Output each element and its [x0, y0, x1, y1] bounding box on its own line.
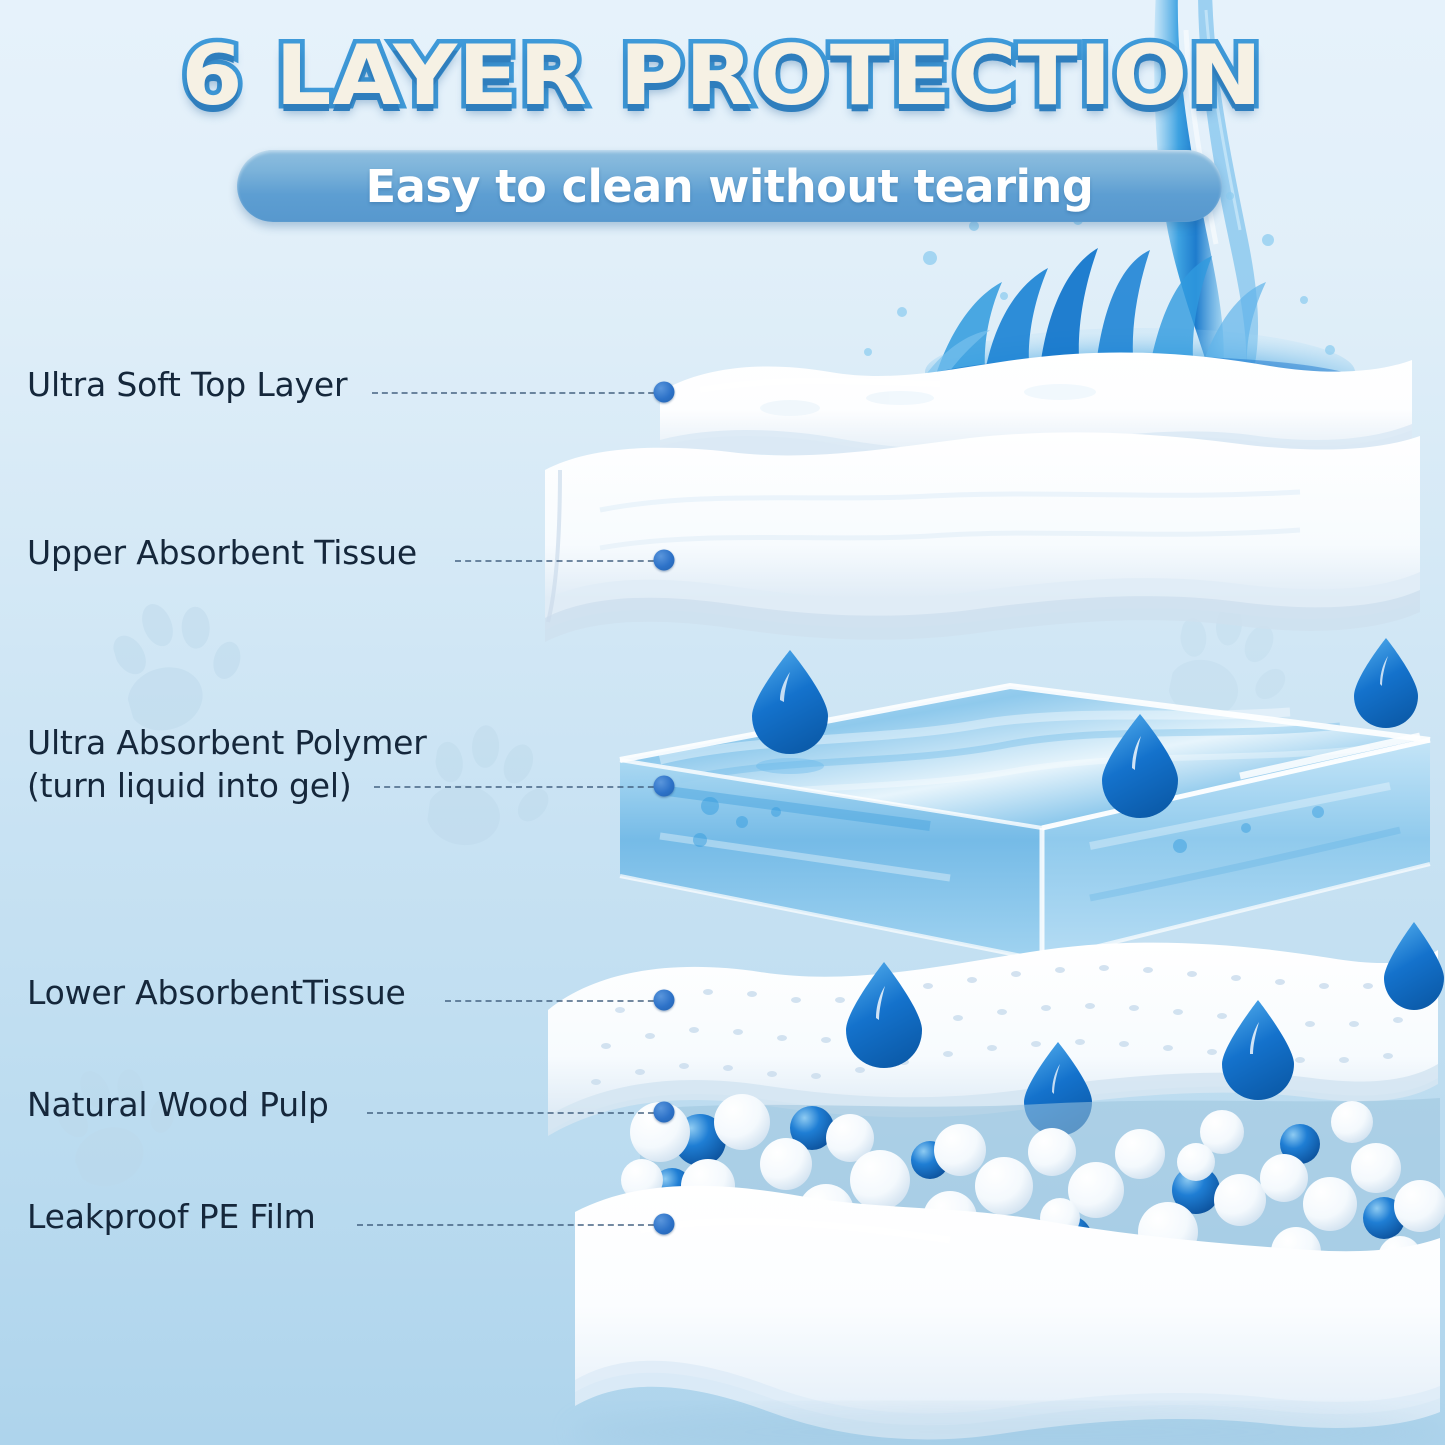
callout-upper-absorbent-tissue: Upper Absorbent Tissue	[27, 528, 677, 578]
leader-line	[374, 786, 664, 788]
layer-label-ultra-soft-top-layer: Ultra Soft Top Layer	[27, 364, 347, 406]
layer-label-lower-absorbent-tissue: Lower AbsorbentTissue	[27, 972, 406, 1014]
leader-line	[367, 1112, 664, 1114]
layer-ultra-absorbent-polymer	[620, 686, 1430, 960]
subtitle-text: Easy to clean without tearing	[366, 160, 1094, 213]
subtitle-banner: Easy to clean without tearing	[237, 150, 1222, 222]
leader-line	[372, 392, 664, 394]
callout-leakproof-pe-film: Leakproof PE Film	[27, 1192, 677, 1242]
leader-end-dot	[654, 990, 675, 1011]
callout-lower-absorbent-tissue: Lower AbsorbentTissue	[27, 968, 677, 1018]
callout-ultra-soft-top-layer: Ultra Soft Top Layer	[27, 360, 677, 410]
leader-line	[445, 1000, 664, 1002]
layer-label-leakproof-pe-film: Leakproof PE Film	[27, 1196, 316, 1238]
layer-label-ultra-absorbent-polymer-line1: Ultra Absorbent Polymer	[27, 722, 427, 765]
leader-end-dot	[654, 1214, 675, 1235]
layer-label-ultra-absorbent-polymer-line2: (turn liquid into gel)	[27, 765, 352, 808]
infographic-canvas: 6 LAYER PROTECTION Easy to clean without…	[0, 0, 1445, 1445]
leader-end-dot	[654, 550, 675, 571]
leader-end-dot	[654, 776, 675, 797]
leader-line	[357, 1224, 664, 1226]
callout-ultra-absorbent-polymer: Ultra Absorbent Polymer (turn liquid int…	[27, 720, 677, 810]
leader-end-dot	[654, 382, 675, 403]
callout-natural-wood-pulp: Natural Wood Pulp	[27, 1080, 677, 1130]
layer-label-upper-absorbent-tissue: Upper Absorbent Tissue	[27, 532, 417, 574]
leader-end-dot	[654, 1102, 675, 1123]
layer-label-natural-wood-pulp: Natural Wood Pulp	[27, 1084, 329, 1126]
leader-line	[455, 560, 664, 562]
